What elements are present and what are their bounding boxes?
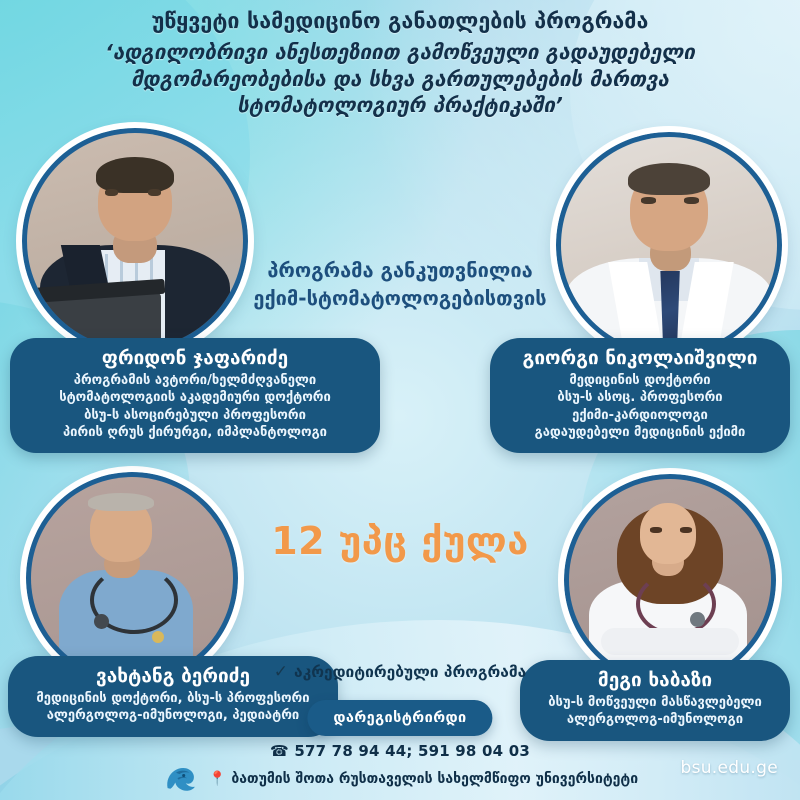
phone-icon: ☎ [270,742,289,760]
speaker-4-portrait [569,479,771,681]
speaker-1-photo [22,128,248,354]
speaker-4-role-2: ალერგოლოგ-იმუნოლოგი [534,711,776,728]
speaker-4-name: მეგი ხაბაზი [534,669,776,692]
audience-line-1: პროგრამა განკუთვნილია [230,256,570,284]
speaker-3-portrait [31,477,233,679]
speaker-1-name: ფრიდონ ჯაფარიძე [24,347,366,370]
speaker-2-role-3: ექიმი-კარდიოლოგი [504,407,776,424]
speaker-1-nameplate: ფრიდონ ჯაფარიძე პროგრამის ავტორი/ხელმძღვ… [10,338,380,453]
program-subtitle-l1: ‘ადგილობრივი ანესთეზიით გამოწვეული გადაუ… [46,39,754,66]
university-address: ბათუმის შოთა რუსთაველის სახელმწიფო უნივე… [231,771,638,787]
program-subtitle-l3: სტომატოლოგიურ პრაქტიკაში’ [46,92,754,119]
speaker-2-role-4: გადაუდებელი მედიცინის ექიმი [504,424,776,441]
speaker-2-portrait [561,137,777,353]
speaker-3-role-1: მედიცინის დოქტორი, ბსუ-ს პროფესორი [22,690,324,707]
accreditation-label: აკრედიტირებული პროგრამა [294,663,526,681]
speaker-1-role-2: სტომატოლოგიის აკადემიური დოქტორი [24,389,366,406]
credit-points: 12 უპც ქულა [190,519,610,563]
poster-header: უწყვეტი სამედიცინო განათლების პროგრამა ‘… [0,8,800,119]
accreditation-note: ✓ აკრედიტირებული პროგრამა [274,663,526,681]
speaker-2-photo [556,132,782,358]
speaker-1-role-4: პირის ღრუს ქირურგი, იმპლანტოლოგი [24,424,366,441]
speaker-1-role-3: ბსუ-ს ასოცირებული პროფესორი [24,407,366,424]
speaker-2-name: გიორგი ნიკოლაიშვილი [504,347,776,370]
speaker-3-photo [26,472,238,684]
speaker-1-portrait [27,133,243,349]
location-pin-icon: 📍 [209,772,226,786]
speaker-2-role-1: მედიცინის დოქტორი [504,372,776,389]
check-icon: ✓ [274,664,288,681]
speaker-1-role-1: პროგრამის ავტორი/ხელმძღვანელი [24,372,366,389]
speaker-4-nameplate: მეგი ხაბაზი ბსუ-ს მოწვეული მასწავლებელი … [520,660,790,741]
university-logo-icon [162,764,204,794]
speaker-2-role-2: ბსუ-ს ასოც. პროფესორი [504,389,776,406]
poster-root: უწყვეტი სამედიცინო განათლების პროგრამა ‘… [0,0,800,800]
speaker-4-role-1: ბსუ-ს მოწვეული მასწავლებელი [534,694,776,711]
register-button[interactable]: დარეგისტრირდი [307,700,492,736]
speaker-3-role-2: ალერგოლოგ-იმუნოლოგი, პედიატრი [22,707,324,724]
website-url[interactable]: bsu.edu.ge [680,758,778,778]
program-title: უწყვეტი სამედიცინო განათლების პროგრამა [46,8,754,36]
phone-numbers: 577 78 94 44; 591 98 04 03 [294,742,530,760]
audience-note: პროგრამა განკუთვნილია ექიმ-სტომატოლოგები… [230,256,570,313]
speaker-2-nameplate: გიორგი ნიკოლაიშვილი მედიცინის დოქტორი ბს… [490,338,790,453]
speaker-4-photo [564,474,776,686]
program-subtitle-l2: მდგომარეობებისა და სხვა გართულებების მარ… [46,66,754,93]
audience-line-2: ექიმ-სტომატოლოგებისთვის [230,284,570,312]
